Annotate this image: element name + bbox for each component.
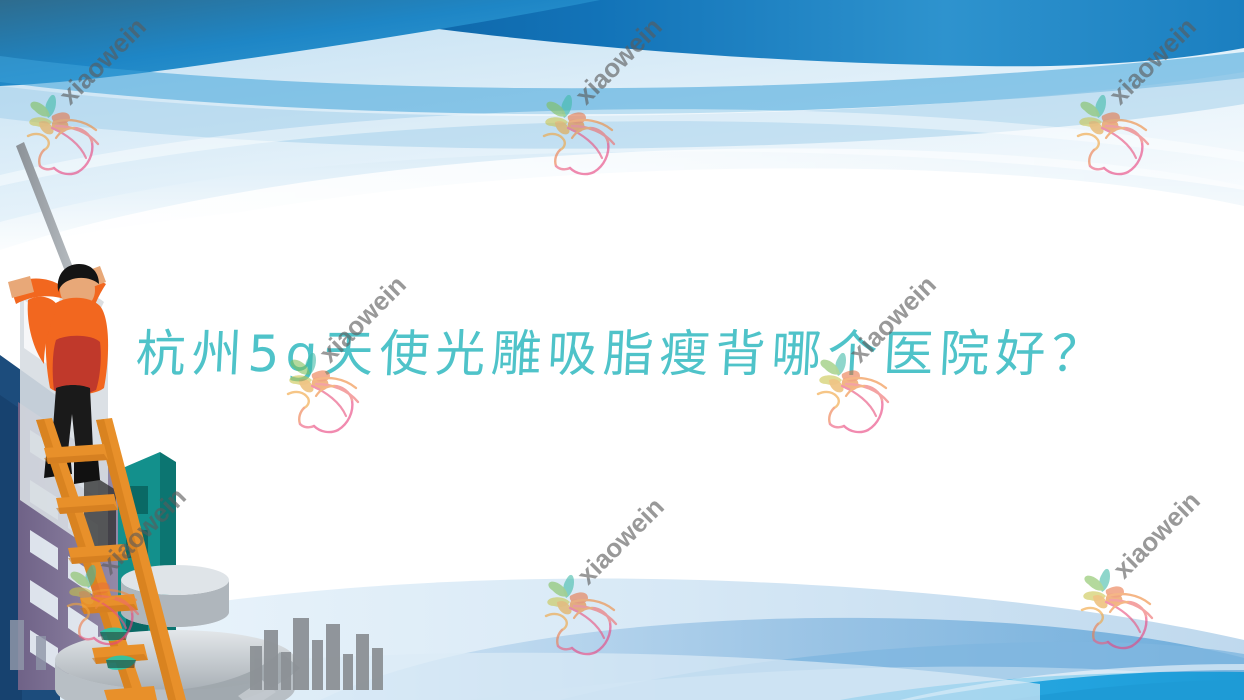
city-skyline-silhouette bbox=[250, 618, 383, 690]
banner-canvas: 杭州5g天使光雕吸脂瘦背哪个医院好？ bbox=[0, 0, 1244, 700]
worker-on-ladder-illustration bbox=[0, 0, 1244, 700]
